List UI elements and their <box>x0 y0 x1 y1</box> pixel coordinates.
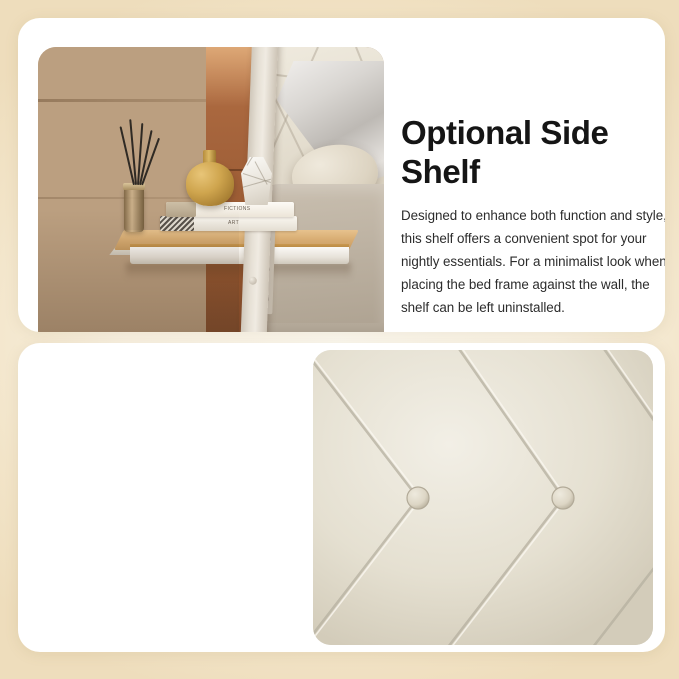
tufting-button <box>407 487 429 509</box>
side-shelf-heading: Optional Side Shelf <box>401 114 665 191</box>
bed-base-rail <box>259 323 384 332</box>
side-shelf-photo: ART FICTIONS <box>38 47 384 332</box>
diamond-tufting-pattern <box>313 350 653 645</box>
side-shelf-text-block: Optional Side Shelf Designed to enhance … <box>401 114 665 319</box>
side-shelf-body: Designed to enhance both function and st… <box>401 204 665 319</box>
tufting-button <box>552 487 574 509</box>
bed-area <box>259 47 384 332</box>
button-tufted-photo <box>313 350 653 645</box>
promo-image-canvas: ART FICTIONS <box>0 0 679 679</box>
wall-floor-shadow <box>38 210 239 332</box>
bedroom-scene: ART FICTIONS <box>38 47 384 332</box>
gold-vase <box>186 162 234 206</box>
feature-card-side-shelf: ART FICTIONS <box>18 18 665 332</box>
tufted-fabric-scene <box>313 350 653 645</box>
